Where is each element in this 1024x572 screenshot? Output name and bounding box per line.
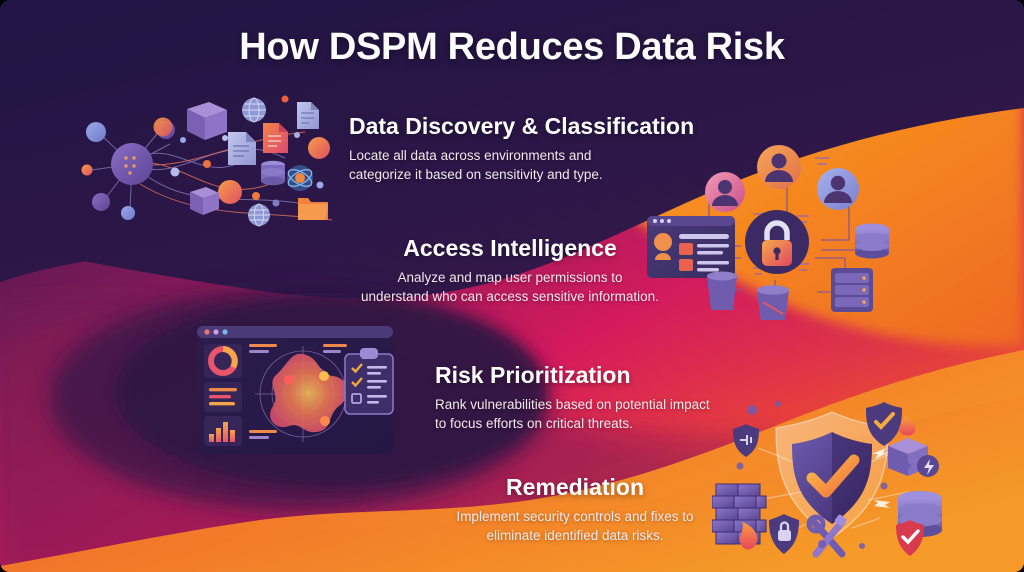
- section-access-intelligence: Access Intelligence Analyze and map user…: [330, 236, 690, 307]
- section-heading: Data Discovery & Classification: [349, 114, 749, 140]
- section-body: Locate all data across environments and …: [349, 146, 749, 185]
- remediation-shield-illustration: [712, 396, 962, 564]
- network-graph-illustration: [70, 88, 360, 228]
- section-body-line-2: eliminate identified data risks.: [420, 526, 730, 546]
- section-body: Analyze and map user permissions to unde…: [330, 268, 690, 307]
- section-body: Implement security controls and fixes to…: [420, 507, 730, 546]
- section-body-line-1: Locate all data across environments and: [349, 146, 749, 166]
- section-body-line-2: to focus efforts on critical threats.: [435, 414, 735, 434]
- section-risk-prioritization: Risk Prioritization Rank vulnerabilities…: [435, 363, 735, 434]
- section-heading: Remediation: [420, 475, 730, 501]
- section-body-line-2: understand who can access sensitive info…: [330, 287, 690, 307]
- section-body-line-1: Analyze and map user permissions to: [330, 268, 690, 288]
- section-body: Rank vulnerabilities based on potential …: [435, 395, 735, 434]
- page-title: How DSPM Reduces Data Risk: [0, 26, 1024, 69]
- section-heading: Risk Prioritization: [435, 363, 735, 389]
- section-remediation: Remediation Implement security controls …: [420, 475, 730, 546]
- section-body-line-1: Rank vulnerabilities based on potential …: [435, 395, 735, 415]
- section-heading: Access Intelligence: [330, 236, 690, 262]
- section-body-line-2: categorize it based on sensitivity and t…: [349, 165, 749, 185]
- section-body-line-1: Implement security controls and fixes to: [420, 507, 730, 527]
- infographic-canvas: How DSPM Reduces Data Risk: [0, 0, 1024, 572]
- risk-dashboard-illustration: [193, 318, 415, 462]
- section-data-discovery: Data Discovery & Classification Locate a…: [349, 114, 749, 185]
